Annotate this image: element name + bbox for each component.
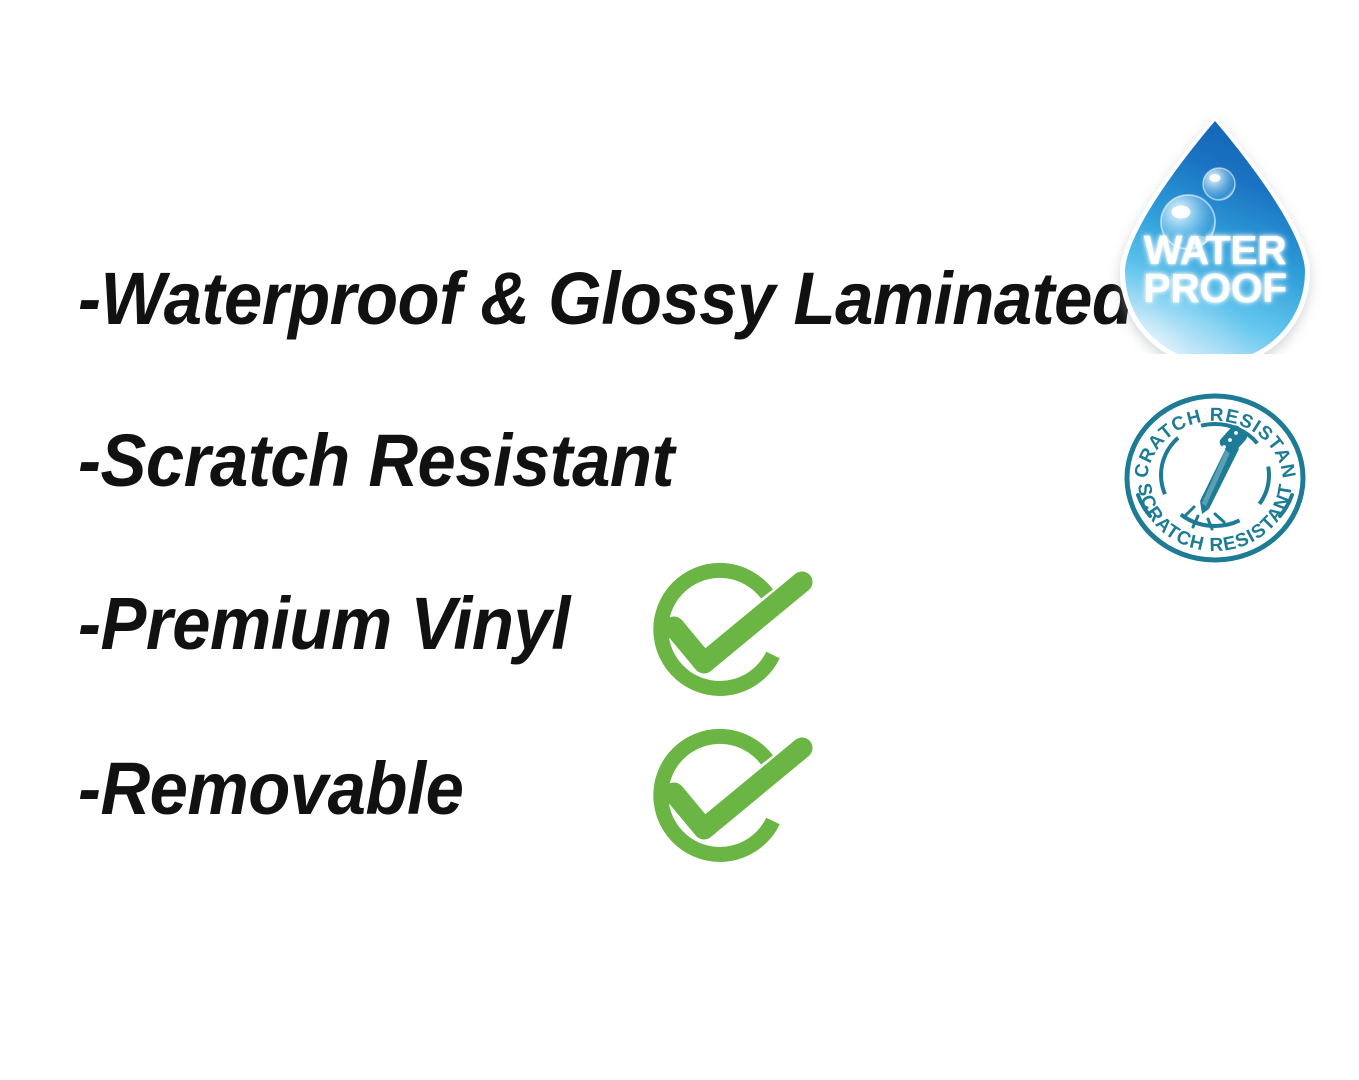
product-feature-graphic: -Waterproof & Glossy Laminated -Scratch … (0, 0, 1359, 1080)
check-mark-stroke (674, 748, 802, 829)
scratch-resistant-badge: SCRATCH RESISTANT SCRATCH RESISTANT (1116, 383, 1314, 569)
bubble-small-icon (1203, 168, 1235, 200)
waterproof-badge: WATER PROOF (1108, 112, 1322, 354)
feature-text-scratch-resistant: -Scratch Resistant (78, 424, 674, 498)
green-check-badge-premium-vinyl (638, 560, 838, 710)
knife-icon (1185, 423, 1249, 529)
check-circle-icon (638, 560, 838, 710)
water-drop-icon (1108, 112, 1322, 354)
check-circle-icon (638, 726, 838, 876)
feature-text-waterproof-glossy-laminated: -Waterproof & Glossy Laminated (78, 262, 1133, 336)
check-mark-stroke (674, 582, 802, 663)
feature-text-premium-vinyl: -Premium Vinyl (78, 587, 570, 661)
green-check-badge-removable (638, 726, 838, 876)
scratch-resistant-seal-icon: SCRATCH RESISTANT SCRATCH RESISTANT (1116, 383, 1314, 569)
feature-text-removable: -Removable (78, 752, 463, 826)
